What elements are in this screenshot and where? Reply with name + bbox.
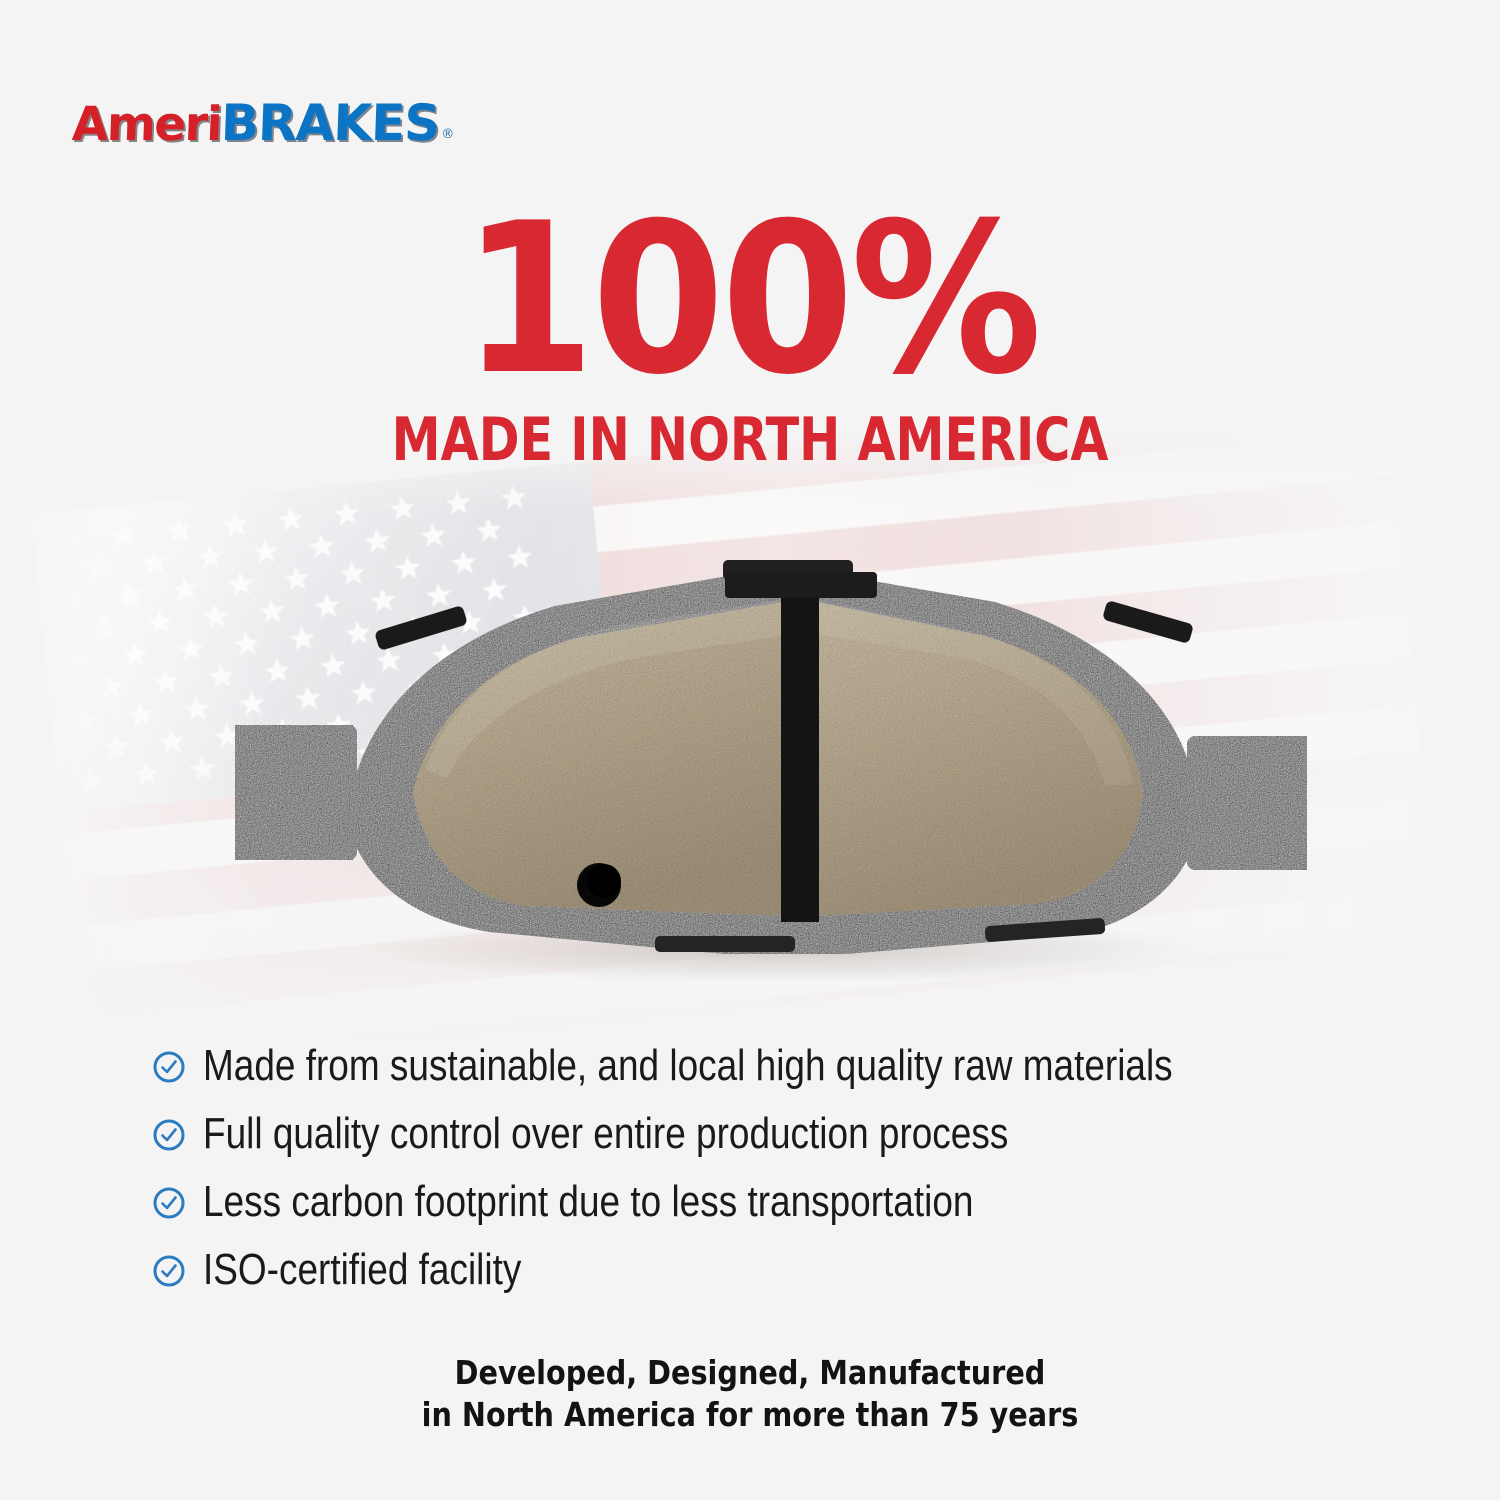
page-subtitle: MADE IN NORTH AMERICA	[392, 410, 1109, 470]
list-item-label: ISO-certified facility	[203, 1246, 521, 1294]
mounting-hole	[577, 863, 621, 907]
check-circle-icon	[152, 1118, 186, 1152]
benefits-list: Made from sustainable, and local high qu…	[152, 1040, 1402, 1312]
list-item-label: Made from sustainable, and local high qu…	[203, 1042, 1173, 1090]
check-circle-icon	[152, 1050, 186, 1084]
list-item: ISO-certified facility	[152, 1244, 1402, 1296]
brand-logo: AmeriBRAKES®	[72, 98, 454, 148]
footer-line-1: Developed, Designed, Manufactured	[98, 1352, 1403, 1394]
logo-text-brakes: BRAKES	[220, 98, 440, 148]
list-item: Full quality control over entire product…	[152, 1108, 1402, 1160]
footer-line-2: in North America for more than 75 years	[98, 1394, 1403, 1436]
check-circle-icon	[152, 1254, 186, 1288]
logo-text-ameri: Ameri	[71, 101, 222, 148]
brake-pad-image	[225, 540, 1315, 980]
page-title-percent: 100%	[462, 205, 1038, 396]
check-circle-icon	[152, 1186, 186, 1220]
promo-poster: AmeriBRAKES®	[0, 0, 1500, 1500]
headline-block: 100% MADE IN NORTH AMERICA	[0, 205, 1500, 470]
list-item: Less carbon footprint due to less transp…	[152, 1176, 1402, 1228]
list-item-label: Full quality control over entire product…	[203, 1110, 1008, 1158]
list-item: Made from sustainable, and local high qu…	[152, 1040, 1402, 1092]
registered-trademark-icon: ®	[441, 128, 454, 141]
product-image-area	[0, 540, 1500, 1010]
list-item-label: Less carbon footprint due to less transp…	[203, 1178, 973, 1226]
footer-block: Developed, Designed, Manufactured in Nor…	[0, 1352, 1500, 1436]
